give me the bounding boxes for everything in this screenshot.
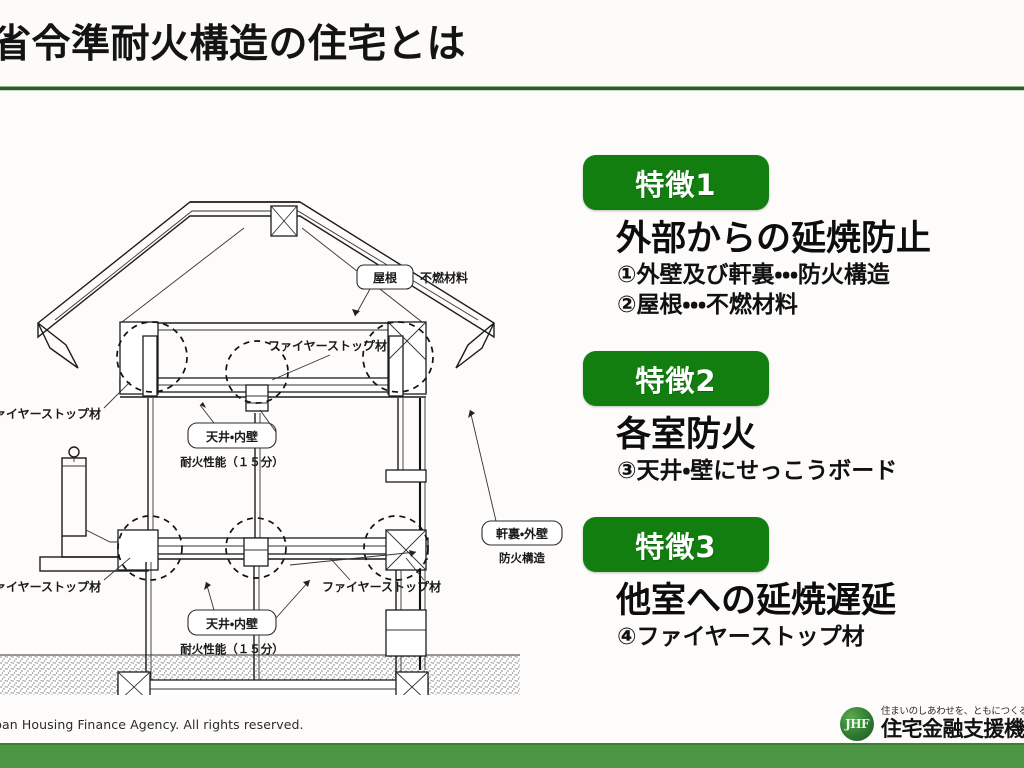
- title-divider: [0, 86, 1024, 91]
- feature-badge-3[interactable]: 特徴3: [583, 517, 769, 572]
- diagram-label-firestop-mid-lower: ファイヤーストップ材: [322, 579, 441, 594]
- jhf-logo-text: 住まいのしあわせを、ともにつくる。 住宅金融支援機構: [881, 706, 1024, 741]
- page-title: 省令準耐火構造の住宅とは: [0, 22, 692, 68]
- feature-badge-label-1: 特徴1: [635, 162, 716, 204]
- feature-badge-label-3: 特徴3: [635, 524, 716, 566]
- slide-canvas: 省令準耐火構造の住宅とは: [0, 0, 1024, 768]
- diagram-label-roof: 屋根: [373, 270, 398, 285]
- features-column: 特徴1 外部からの延焼防止 ①外壁及び軒裏・・・防火構造 ②屋根・・・不燃材料 …: [583, 155, 1024, 652]
- jhf-emblem-label: JHF: [845, 717, 869, 731]
- copyright-text: pan Housing Finance Agency. All rights r…: [0, 717, 304, 732]
- jhf-logo: JHF 住まいのしあわせを、ともにつくる。 住宅金融支援機構: [840, 706, 1024, 741]
- house-section-diagram: 屋根 不燃材料 ファイヤーストップ材 ァイヤーストップ材 天井・内壁 耐火性能（…: [0, 110, 580, 695]
- feature-items-3: ④ファイヤーストップ材: [617, 622, 1024, 652]
- footer-bar: [0, 743, 1024, 768]
- diagram-label-roof-material: 不燃材料: [420, 270, 468, 285]
- diagram-label-fireres-lower: 耐火性能（１５分）: [180, 642, 284, 656]
- jhf-organization-name: 住宅金融支援機構: [881, 718, 1024, 741]
- feature-item: ①外壁及び軒裏・・・防火構造: [617, 260, 1024, 290]
- feature-block-2: 特徴2 各室防火 ③天井・壁にせっこうボード: [583, 351, 1024, 486]
- header-band: 省令準耐火構造の住宅とは: [0, 0, 1024, 86]
- diagram-label-eaves-material: 防火構造: [499, 551, 545, 565]
- feature-badge-label-2: 特徴2: [635, 358, 716, 400]
- diagram-label-eaves-wall: 軒裏・外壁: [496, 526, 548, 541]
- diagram-label-firestop-left-lower: ァイヤーストップ材: [0, 579, 101, 594]
- feature-items-1: ①外壁及び軒裏・・・防火構造 ②屋根・・・不燃材料: [617, 260, 1024, 320]
- jhf-emblem-icon: JHF: [840, 707, 874, 741]
- feature-item: ④ファイヤーストップ材: [617, 622, 1024, 652]
- feature-heading-3: 他室への延焼遅延: [616, 581, 1024, 621]
- diagram-label-ceiling-lower: 天井・内壁: [206, 616, 258, 631]
- feature-block-3: 特徴3 他室への延焼遅延 ④ファイヤーストップ材: [583, 517, 1024, 652]
- feature-item: ③天井・壁にせっこうボード: [617, 456, 1024, 486]
- feature-heading-2: 各室防火: [616, 415, 1024, 455]
- diagram-label-firestop-left-upper: ァイヤーストップ材: [0, 406, 101, 421]
- diagram-label-firestop-roof: ファイヤーストップ材: [268, 338, 387, 353]
- feature-block-1: 特徴1 外部からの延焼防止 ①外壁及び軒裏・・・防火構造 ②屋根・・・不燃材料: [583, 155, 1024, 320]
- feature-items-2: ③天井・壁にせっこうボード: [617, 456, 1024, 486]
- diagram-label-fireres-upper: 耐火性能（１５分）: [180, 455, 284, 469]
- feature-badge-1[interactable]: 特徴1: [583, 155, 769, 210]
- diagram-label-ceiling-upper: 天井・内壁: [206, 429, 258, 444]
- feature-item: ②屋根・・・不燃材料: [617, 290, 1024, 320]
- feature-heading-1: 外部からの延焼防止: [616, 219, 1024, 259]
- feature-badge-2[interactable]: 特徴2: [583, 351, 769, 406]
